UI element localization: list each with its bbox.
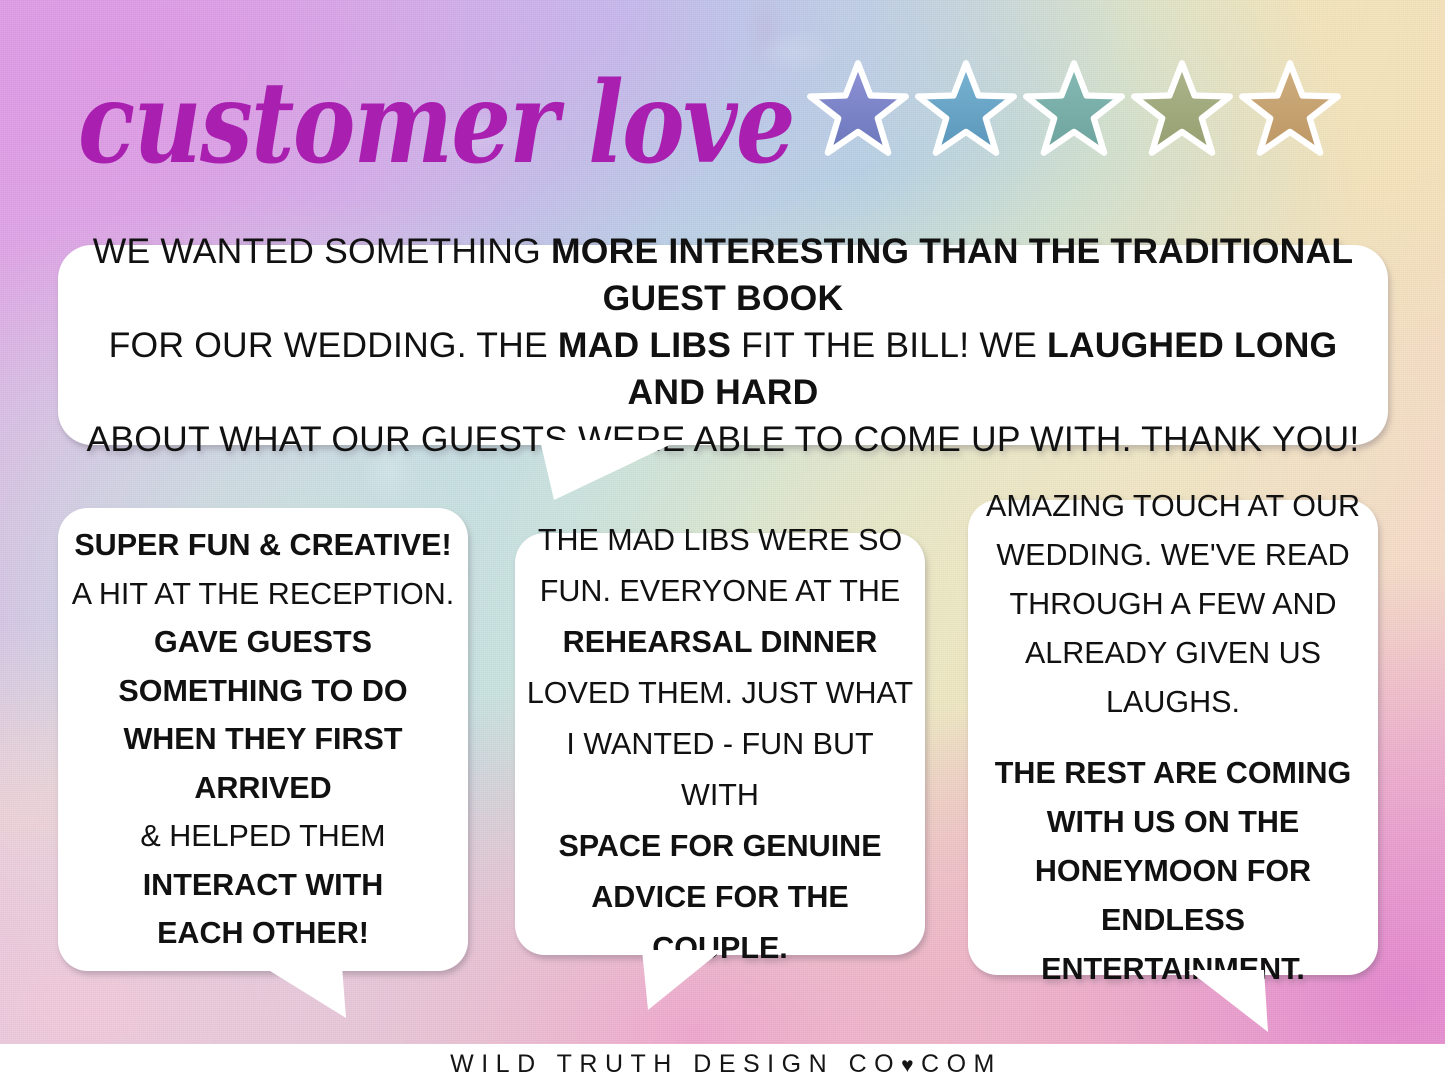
testimonial-line: ENDLESS xyxy=(980,896,1366,945)
testimonial-line: FOR OUR WEDDING. THE MAD LIBS FIT THE BI… xyxy=(84,322,1362,416)
testimonial-line: THE MAD LIBS WERE SO xyxy=(525,515,915,566)
headline-script-text: customer love xyxy=(78,58,794,189)
testimonial-line: SUPER FUN & CREATIVE! xyxy=(70,521,456,570)
right-bubble-tail xyxy=(1188,970,1280,1036)
left-testimonial-text: SUPER FUN & CREATIVE!A HIT AT THE RECEPT… xyxy=(58,521,468,958)
star-5-icon xyxy=(1238,59,1342,159)
testimonial-line: AMAZING TOUCH AT OUR xyxy=(980,482,1366,531)
testimonial-line: EACH OTHER! xyxy=(70,909,456,958)
testimonial-line: INTERACT WITH xyxy=(70,861,456,910)
testimonial-line: SOMETHING TO DO xyxy=(70,667,456,716)
page-title: customer love xyxy=(72,46,812,196)
right-testimonial-bubble: AMAZING TOUCH AT OURWEDDING. WE'VE READT… xyxy=(968,500,1378,975)
testimonial-line: ABOUT WHAT OUR GUESTS WERE ABLE TO COME … xyxy=(84,416,1362,463)
left-bubble-tail xyxy=(262,966,362,1022)
right-testimonial-text: AMAZING TOUCH AT OURWEDDING. WE'VE READT… xyxy=(968,482,1378,994)
customer-love-testimonial-graphic: customer love xyxy=(0,0,1445,1084)
heart-icon: ♥ xyxy=(901,1054,921,1077)
footer-brand-part1: WILD TRUTH DESIGN CO xyxy=(450,1050,901,1078)
testimonial-line: THE REST ARE COMING xyxy=(980,749,1366,798)
testimonial-line: WE WANTED SOMETHING MORE INTERESTING THA… xyxy=(84,228,1362,322)
testimonial-line: FUN. EVERYONE AT THE xyxy=(525,566,915,617)
testimonial-line: THROUGH A FEW AND xyxy=(980,580,1366,629)
star-1-icon xyxy=(806,59,910,159)
testimonial-line: LOVED THEM. JUST WHAT xyxy=(525,668,915,719)
testimonial-line xyxy=(980,727,1366,749)
testimonial-line: WEDDING. WE'VE READ xyxy=(980,531,1366,580)
testimonial-line: REHEARSAL DINNER xyxy=(525,617,915,668)
testimonial-line: WITH US ON THE xyxy=(980,798,1366,847)
star-rating xyxy=(806,48,1366,170)
main-testimonial-text: WE WANTED SOMETHING MORE INTERESTING THA… xyxy=(58,228,1388,463)
main-testimonial-bubble: WE WANTED SOMETHING MORE INTERESTING THA… xyxy=(58,245,1388,445)
star-2-icon xyxy=(914,59,1018,159)
left-testimonial-bubble: SUPER FUN & CREATIVE!A HIT AT THE RECEPT… xyxy=(58,508,468,971)
testimonial-line: ALREADY GIVEN US LAUGHS. xyxy=(980,629,1366,727)
footer-brand-part2: COM xyxy=(921,1050,1002,1078)
middle-testimonial-text: THE MAD LIBS WERE SOFUN. EVERYONE AT THE… xyxy=(515,515,925,974)
footer: WILD TRUTH DESIGN CO♥COM xyxy=(0,1044,1445,1084)
testimonial-line: & HELPED THEM xyxy=(70,812,456,861)
main-bubble-tail xyxy=(540,440,680,504)
testimonial-line: GAVE GUESTS xyxy=(70,618,456,667)
footer-brand-text: WILD TRUTH DESIGN CO♥COM xyxy=(450,1050,1002,1079)
star-3-icon xyxy=(1022,59,1126,159)
middle-bubble-tail xyxy=(636,950,732,1014)
testimonial-line: A HIT AT THE RECEPTION. xyxy=(70,570,456,619)
testimonial-line: WHEN THEY FIRST ARRIVED xyxy=(70,715,456,812)
testimonial-line: ENTERTAINMENT. xyxy=(980,945,1366,994)
testimonial-line: SPACE FOR GENUINE xyxy=(525,821,915,872)
star-4-icon xyxy=(1130,59,1234,159)
testimonial-line: I WANTED - FUN BUT WITH xyxy=(525,719,915,821)
testimonial-line: HONEYMOON FOR xyxy=(980,847,1366,896)
middle-testimonial-bubble: THE MAD LIBS WERE SOFUN. EVERYONE AT THE… xyxy=(515,533,925,955)
